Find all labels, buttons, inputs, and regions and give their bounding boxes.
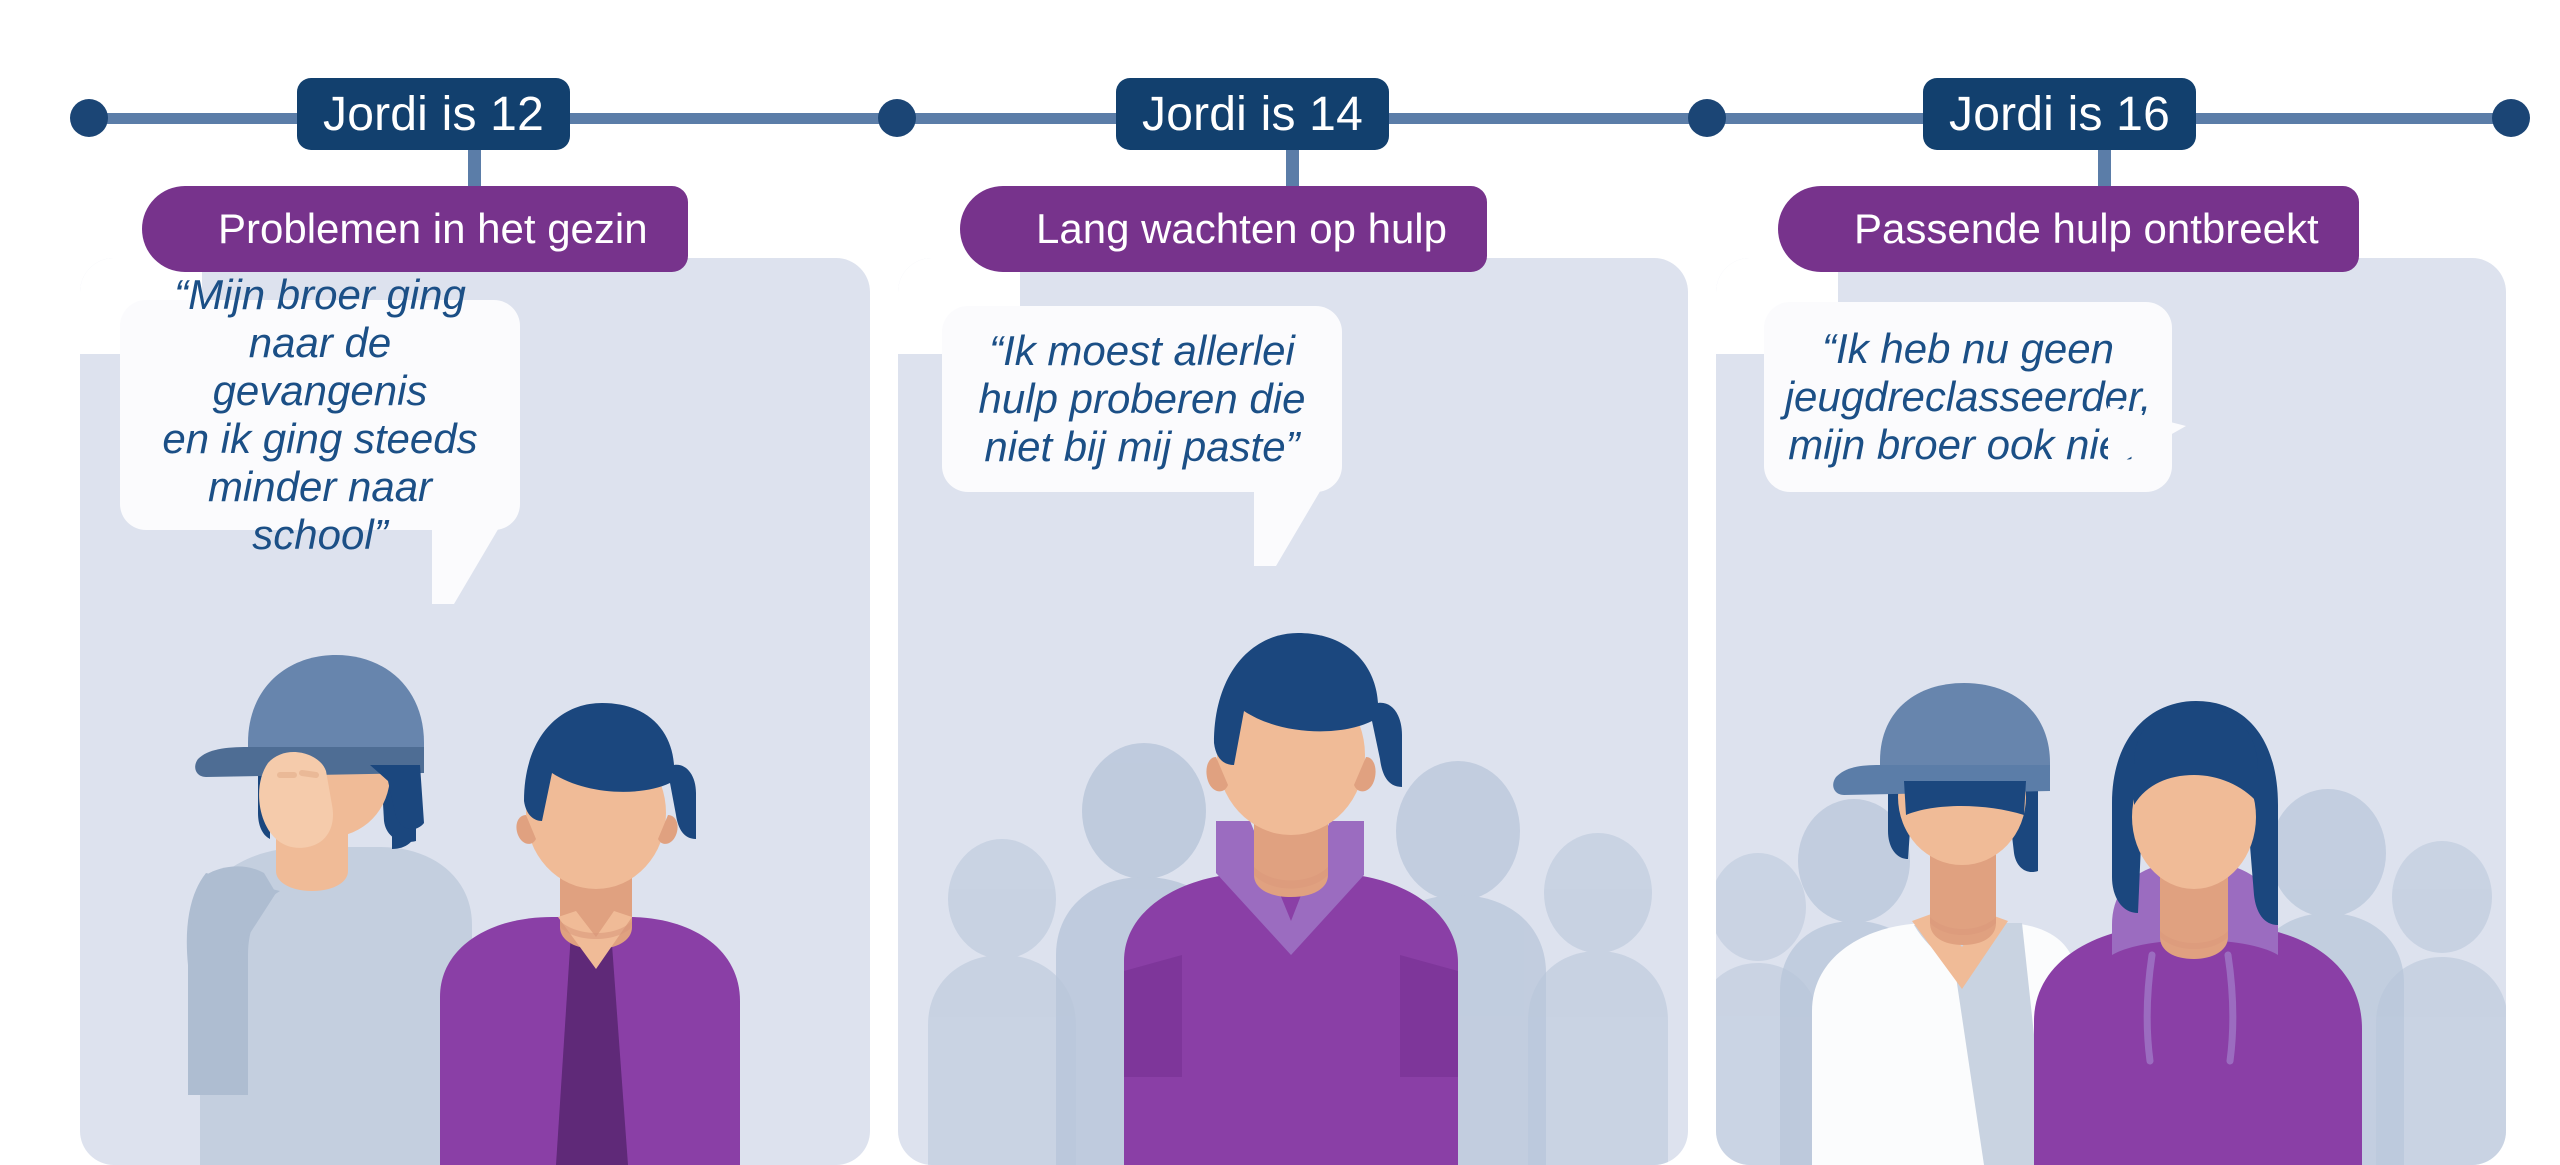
infographic-root: Jordi is 12 Jordi is 14 Jordi is 16 xyxy=(0,0,2560,1165)
timeline-label-age-14[interactable]: Jordi is 14 xyxy=(1116,78,1389,150)
panel-problemen-in-het-gezin[interactable]: “Mijn broer ging naar de gevangenis en i… xyxy=(80,186,870,1165)
timeline: Jordi is 12 Jordi is 14 Jordi is 16 xyxy=(0,0,2560,200)
figure-main-purple-tshirt xyxy=(1124,633,1458,1165)
panel-header-label-1: Problemen in het gezin xyxy=(218,205,648,253)
quote-text-1: “Mijn broer ging naar de gevangenis en i… xyxy=(120,271,520,558)
figure-cap-hiding-face xyxy=(187,655,472,1165)
timeline-dot-1 xyxy=(878,99,916,137)
panel-header-3[interactable]: Passende hulp ontbreekt xyxy=(1778,186,2359,272)
quote-bubble-1: “Mijn broer ging naar de gevangenis en i… xyxy=(120,300,520,530)
panel-illustration-2 xyxy=(898,625,1688,1165)
quote-bubble-tail-2 xyxy=(1254,488,1322,566)
panel-card-1: “Mijn broer ging naar de gevangenis en i… xyxy=(80,258,870,1165)
panel-header-2[interactable]: Lang wachten op hulp xyxy=(960,186,1487,272)
panel-passende-hulp-ontbreekt[interactable]: “Ik heb nu geen jeugdreclasseerder, mijn… xyxy=(1716,186,2506,1165)
panel-card-3: “Ik heb nu geen jeugdreclasseerder, mijn… xyxy=(1716,258,2506,1165)
quote-bubble-tail-1 xyxy=(432,526,500,604)
timeline-label-age-16[interactable]: Jordi is 16 xyxy=(1923,78,2196,150)
quote-bubble-tail-3 xyxy=(2108,406,2186,470)
figure-purple-jacket xyxy=(440,703,740,1165)
timeline-dot-3 xyxy=(2492,99,2530,137)
panel-header-label-2: Lang wachten op hulp xyxy=(1036,205,1447,253)
timeline-label-age-12[interactable]: Jordi is 12 xyxy=(297,78,570,150)
panel-header-label-3: Passende hulp ontbreekt xyxy=(1854,205,2319,253)
panel-card-2: “Ik moest allerlei hulp proberen die nie… xyxy=(898,258,1688,1165)
timeline-dot-2 xyxy=(1688,99,1726,137)
panel-illustration-1 xyxy=(80,625,870,1165)
panel-lang-wachten-op-hulp[interactable]: “Ik moest allerlei hulp proberen die nie… xyxy=(898,186,1688,1165)
panel-illustration-3 xyxy=(1716,625,2506,1165)
quote-bubble-2: “Ik moest allerlei hulp proberen die nie… xyxy=(942,306,1342,492)
timeline-dot-0 xyxy=(70,99,108,137)
quote-text-2: “Ik moest allerlei hulp proberen die nie… xyxy=(953,327,1332,471)
panel-header-1[interactable]: Problemen in het gezin xyxy=(142,186,688,272)
